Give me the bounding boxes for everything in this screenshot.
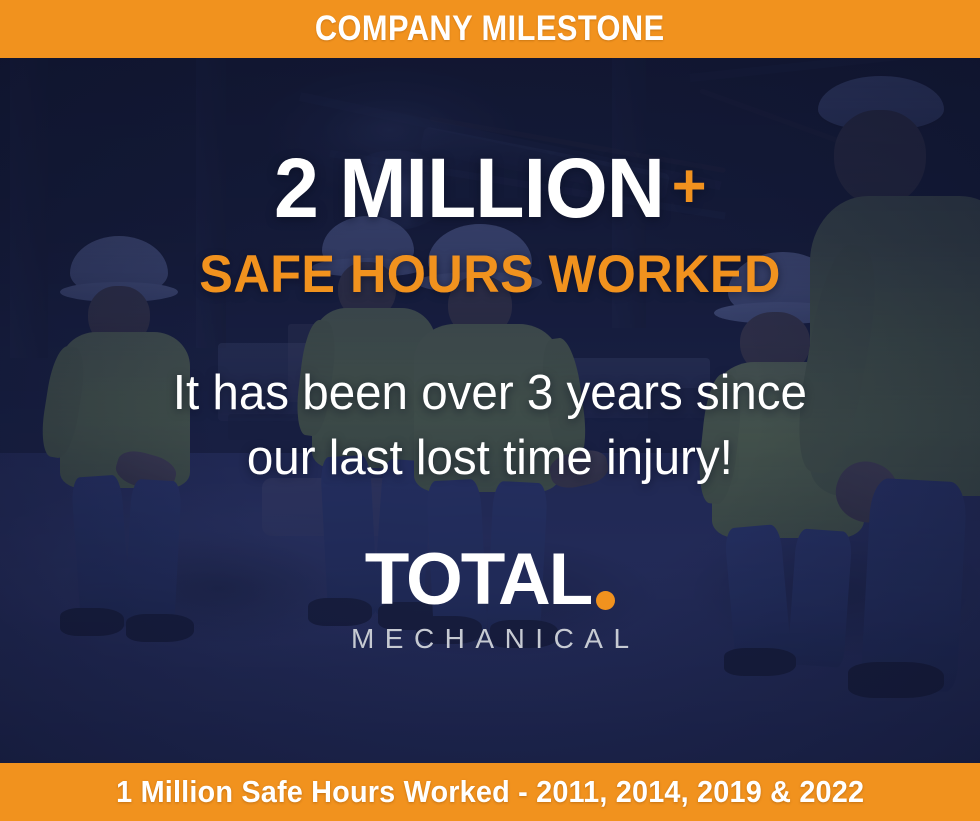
- body-copy-line-1: It has been over 3 years since: [173, 361, 807, 426]
- top-banner-label: COMPANY MILESTONE: [315, 9, 665, 49]
- headline: 2 MILLION+: [274, 146, 706, 230]
- body-copy-line-2: our last lost time injury!: [173, 426, 807, 491]
- bottom-banner-label: 1 Million Safe Hours Worked - 2011, 2014…: [116, 774, 864, 810]
- body-copy: It has been over 3 years since our last …: [173, 361, 807, 490]
- logo-tagline-mechanical: MECHANICAL: [340, 623, 639, 655]
- milestone-graphic: COMPANY MILESTONE 2 MILLION+ SAFE HOURS …: [0, 0, 980, 821]
- top-banner: COMPANY MILESTONE: [0, 0, 980, 58]
- subheadline: SAFE HOURS WORKED: [199, 248, 781, 301]
- total-mechanical-logo: TOTAL MECHANICAL: [340, 546, 639, 654]
- headline-plus-symbol: +: [672, 152, 706, 221]
- headline-number: 2 MILLION: [274, 141, 664, 235]
- hero-content: 2 MILLION+ SAFE HOURS WORKED It has been…: [0, 58, 980, 763]
- logo-wordmark-total: TOTAL: [365, 546, 592, 613]
- logo-orange-dot-icon: [596, 591, 615, 610]
- bottom-banner: 1 Million Safe Hours Worked - 2011, 2014…: [0, 763, 980, 821]
- logo-wordmark-row: TOTAL: [365, 546, 616, 613]
